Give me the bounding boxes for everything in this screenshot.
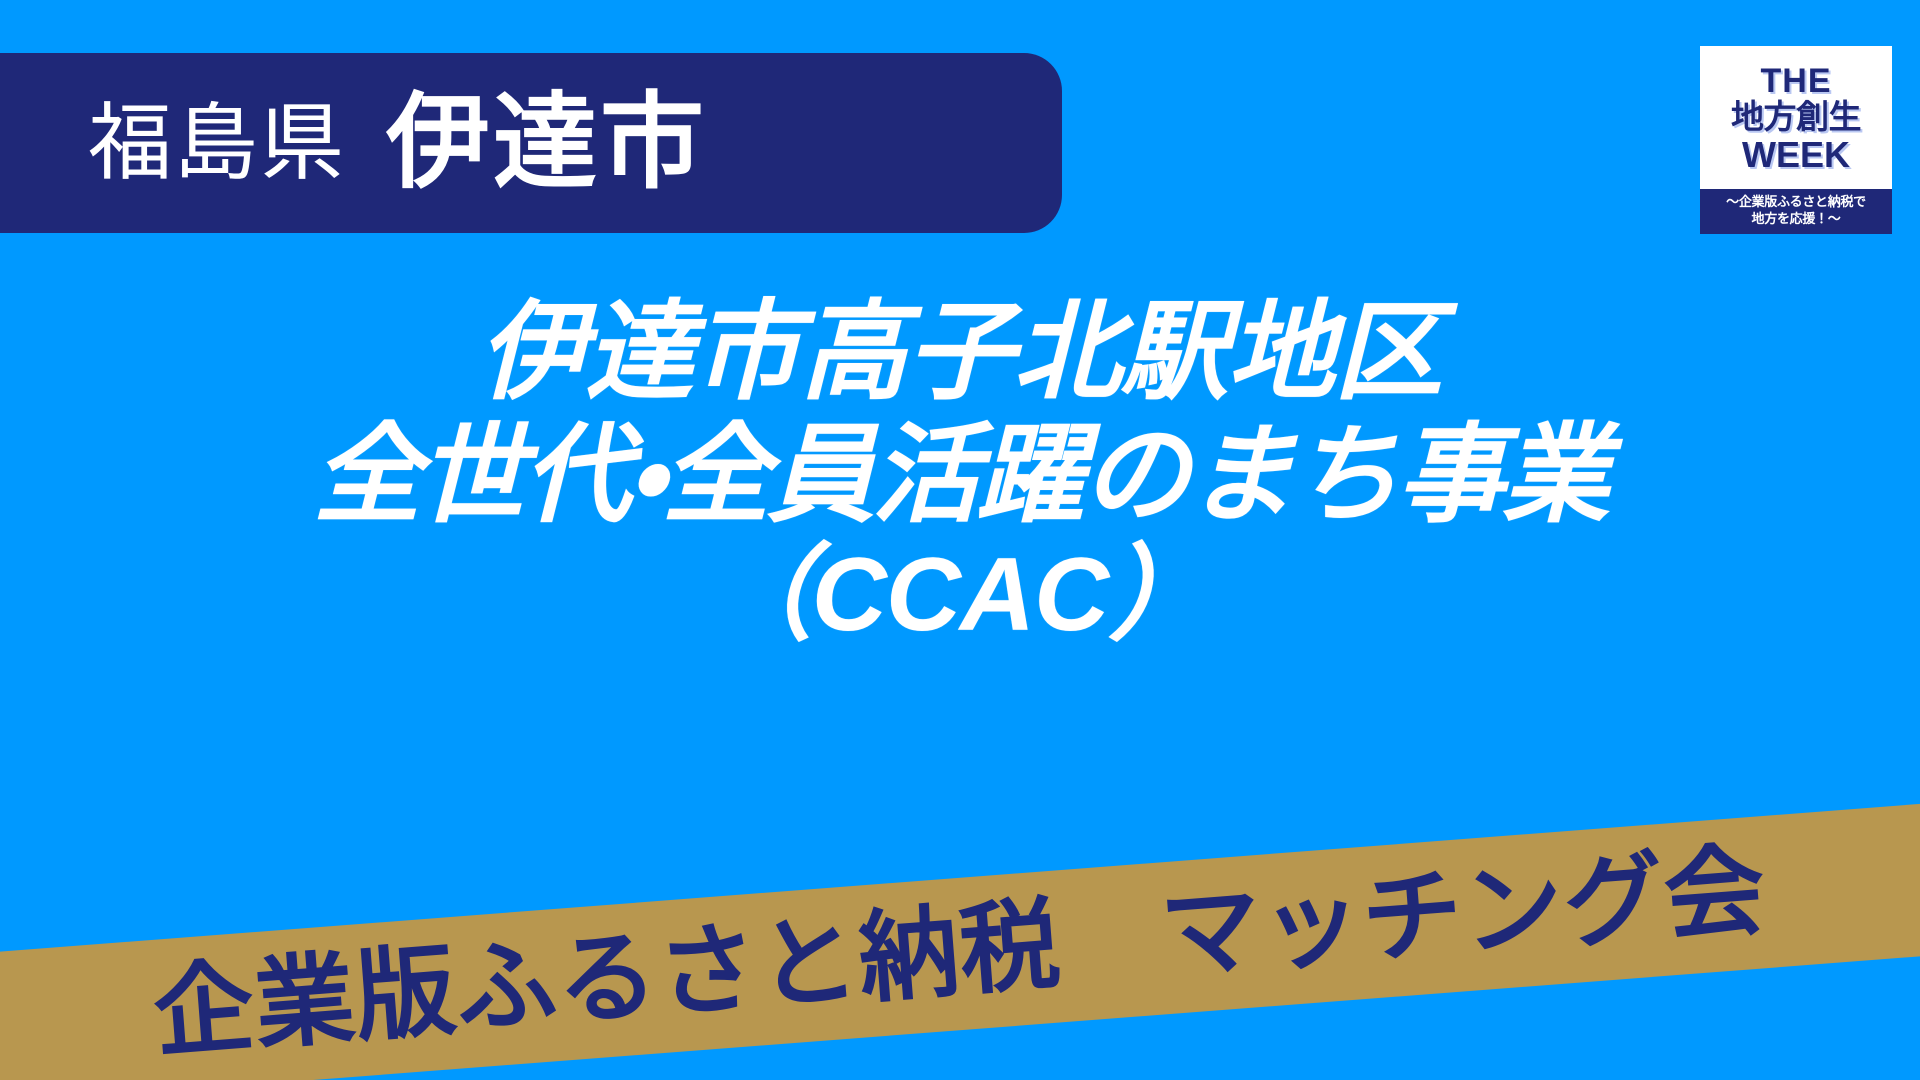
project-title-line2: 全世代・全員活躍のまち事業 <box>0 413 1920 536</box>
presentation-slide: 福島県 伊達市 THE 地方創生 WEEK 〜企業版ふるさと納税で 地方を応援！… <box>0 0 1920 1080</box>
prefecture-label: 福島県 <box>88 101 346 185</box>
week-logo-tagline: 〜企業版ふるさと納税で 地方を応援！〜 <box>1700 189 1892 234</box>
municipality-plate: 福島県 伊達市 <box>0 53 1062 233</box>
week-logo-tagline-line1: 〜企業版ふるさと納税で <box>1702 194 1890 211</box>
project-title-line1: 伊達市高子北駅地区 <box>0 290 1920 413</box>
week-logo-tagline-line2: 地方を応援！〜 <box>1702 211 1890 228</box>
week-logo-body: THE 地方創生 WEEK <box>1700 46 1892 189</box>
week-logo-line-jp: 地方創生 <box>1731 100 1861 135</box>
city-label: 伊達市 <box>386 91 707 195</box>
project-title-line3: （CCAC） <box>0 536 1920 655</box>
week-logo-line-the: THE <box>1761 64 1832 98</box>
ribbon-label: 企業版ふるさと納税 マッチング会 <box>0 798 1920 1080</box>
event-ribbon: 企業版ふるさと納税 マッチング会 <box>0 727 1920 1080</box>
project-title: 伊達市高子北駅地区 全世代・全員活躍のまち事業 （CCAC） <box>0 290 1920 655</box>
the-chihou-sousei-week-logo: THE 地方創生 WEEK 〜企業版ふるさと納税で 地方を応援！〜 <box>1700 46 1892 234</box>
week-logo-line-week: WEEK <box>1742 137 1850 173</box>
